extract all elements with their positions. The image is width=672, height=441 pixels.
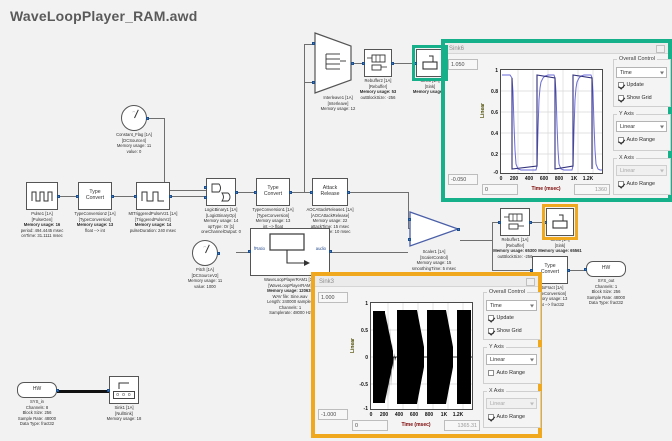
x-axis-group: X Axis (483, 391, 541, 428)
wire (112, 196, 136, 197)
scope-trace (501, 70, 603, 174)
y-tick: -0.5 (350, 382, 368, 388)
checkbox-box (618, 82, 624, 88)
overall-control-select[interactable]: Time (486, 300, 537, 311)
chevron-down-icon (530, 358, 534, 361)
y-tick: 0.6 (482, 110, 498, 116)
block-typeconversion1[interactable]: Type Convert TypeConversion1 [1A] [TypeC… (256, 178, 290, 206)
scope-trace (371, 303, 473, 410)
port-out[interactable] (111, 195, 114, 198)
knob-dial[interactable]: ⌒ (192, 240, 218, 266)
block-pitch[interactable]: ⌒ Pitch [1A] [DCSourceV2] Memory usage: … (192, 240, 218, 266)
block-label: Type Convert (256, 178, 290, 206)
y-min-field[interactable]: -1.000 (318, 409, 348, 420)
checkbox-box (488, 414, 494, 420)
y-tick: 0.8 (482, 89, 498, 95)
checkbox-label: Auto Range (497, 414, 525, 420)
block-label: Attack Release (312, 178, 348, 206)
knob-ticks: ⌒ (203, 246, 207, 250)
x-axis-label: Time (msec) (518, 186, 574, 192)
y-tick: 0 (356, 355, 368, 361)
x-tick: 400 (392, 412, 406, 418)
block-caption: Constant_Flag [1A] [DCSource4] Memory us… (86, 131, 182, 154)
group-label: X Axis (617, 155, 636, 161)
y-tick: 0.2 (482, 152, 498, 158)
port-out[interactable] (235, 191, 238, 194)
block-rebuffer2[interactable]: Rebuffer2 [1A] [Rebuffer] Memory usage: … (364, 49, 392, 77)
port-out[interactable] (169, 195, 172, 198)
schematic-canvas[interactable]: WaveLoopPlayer_RAM.awd Pulse1 [1A] [Puls… (0, 0, 672, 441)
show-grid-checkbox[interactable]: Show Grid (618, 95, 652, 101)
port-in[interactable] (498, 221, 501, 224)
block-sink1[interactable]: 0 0 0 Sink1 [1A] [NullSink] Memory usage… (109, 376, 139, 404)
wire (290, 192, 312, 193)
block-label: Type Convert (78, 182, 112, 210)
port-in[interactable] (134, 195, 137, 198)
block-sys-in[interactable]: HW SYS_in Channels: 8 Block Size: 256 Sa… (17, 382, 57, 398)
port-in[interactable] (362, 62, 365, 65)
x-auto-range-checkbox[interactable]: Auto Range (488, 414, 525, 420)
port-in-fratio[interactable] (248, 250, 251, 253)
y-max-field[interactable]: 1.000 (318, 292, 348, 303)
select-value: Time (620, 70, 632, 76)
block-logicbinary1[interactable]: LogicBinary1 [1A] [LogicBinaryOp] Memory… (206, 178, 236, 206)
port-out[interactable] (457, 228, 460, 231)
select-value: Linear (490, 401, 505, 407)
x-axis-label: Time (msec) (388, 422, 444, 428)
knob-dial[interactable]: ⌒ (121, 105, 147, 131)
scope-titlebar[interactable]: Sink3 (315, 276, 538, 287)
overall-control-select[interactable]: Time (616, 67, 667, 78)
port-out[interactable] (289, 191, 292, 194)
select-value: Linear (620, 168, 635, 174)
x-axis-scale-select: Linear (486, 398, 537, 409)
wire (236, 192, 256, 193)
port-in-2[interactable] (312, 81, 315, 84)
port-out[interactable] (529, 221, 532, 224)
select-value: Time (490, 303, 502, 309)
x-tick: 1.2K (450, 412, 466, 418)
block-caption: SYS_out Channels: 1 Block Size: 256 Samp… (558, 277, 654, 306)
wire (392, 63, 416, 64)
knob-ticks: ⌒ (132, 111, 136, 115)
checkbox-label: Show Grid (627, 95, 652, 101)
x-tick: 0 (365, 412, 377, 418)
port-out[interactable] (56, 389, 59, 392)
checkbox-label: Auto Range (627, 137, 655, 143)
x-min-field[interactable]: 0 (482, 184, 518, 195)
port-in[interactable] (254, 191, 257, 194)
port-in[interactable] (310, 191, 313, 194)
x-auto-range-checkbox[interactable]: Auto Range (618, 181, 655, 187)
port-out[interactable] (146, 117, 149, 120)
block-rebuffer1[interactable]: Rebuffer1 [1A] [Rebuffer] Memory usage: … (500, 208, 530, 236)
checkbox-label: Show Grid (497, 328, 522, 334)
port-out[interactable] (57, 195, 60, 198)
block-sink6[interactable]: Sink6 [1A] [Sink] Memory usage: 5 (416, 49, 444, 77)
hw-label: HW (17, 382, 57, 398)
chevron-down-icon (660, 71, 664, 74)
block-pulse1[interactable]: Pulse1 [1A] [PulseGen] Memory usage: 16 … (26, 182, 58, 210)
port-label-fratio: fRatio (254, 246, 265, 251)
checkbox-box (488, 328, 494, 334)
port-in-a[interactable] (204, 186, 207, 189)
y-axis-label: Linear (350, 338, 356, 353)
update-checkbox[interactable]: Update (488, 315, 514, 321)
scope-menu-button[interactable] (526, 278, 535, 286)
block-typeconversion2[interactable]: Type Convert TypeConversion2 [1A] [TypeC… (78, 182, 112, 210)
y-tick: 1 (356, 301, 368, 307)
checkbox-label: Update (627, 82, 644, 88)
group-label: Overall Control (617, 56, 657, 62)
scope-menu-button[interactable] (656, 45, 665, 53)
scaler-shape (408, 210, 460, 248)
block-caption: SYS_in Channels: 8 Block Size: 256 Sampl… (0, 398, 85, 427)
x-tick: 600 (537, 176, 551, 182)
scope-title-text: Sink6 (449, 46, 464, 52)
y-axis-scale-select[interactable]: Linear (486, 354, 537, 365)
port-in[interactable] (584, 268, 587, 271)
chevron-down-icon (530, 304, 534, 307)
x-tick: 800 (552, 176, 566, 182)
hw-label: HW (586, 261, 626, 277)
x-tick: 200 (377, 412, 391, 418)
x-tick: 1.2K (580, 176, 596, 182)
scope-window-sink3[interactable]: Sink3 1.000 -1.000 Linear 1 0.5 0 -0.5 -… (311, 272, 542, 438)
y-auto-range-checkbox[interactable]: Auto Range (488, 370, 525, 376)
scope-plot-area[interactable] (370, 302, 473, 410)
checkbox-box (488, 315, 494, 321)
port-out[interactable] (347, 191, 350, 194)
scope-window-sink6[interactable]: Sink6 1.050 -0.050 Linear 1 0.8 0.6 0.4 … (441, 39, 672, 202)
y-axis-scale-select[interactable]: Linear (616, 121, 667, 132)
x-tick: 400 (522, 176, 536, 182)
block-constant-flag[interactable]: ⌒ Constant_Flag [1A] [DCSource4] Memory … (121, 105, 147, 131)
checkbox-box (618, 181, 624, 187)
checkbox-label: Update (497, 315, 514, 321)
y-min-field[interactable]: -0.050 (448, 174, 478, 185)
block-aocattackrelease1[interactable]: Attack Release AOCAttackRelease1 [1A] [A… (312, 178, 348, 206)
wire (304, 44, 305, 192)
y-axis-group: Y Axis (613, 114, 671, 151)
x-tick: 1K (438, 412, 450, 418)
show-grid-checkbox[interactable]: Show Grid (488, 328, 522, 334)
group-label: Overall Control (487, 289, 527, 295)
select-value: Linear (490, 357, 505, 363)
block-sys-out[interactable]: HW SYS_out Channels: 1 Block Size: 256 S… (586, 261, 626, 277)
block-waveloopplayerram1[interactable]: fRatio audio WaveLoopPlayerRAM1 [1A] [Wa… (250, 228, 330, 276)
x-tick: 1K (568, 176, 580, 182)
group-label: Y Axis (487, 344, 506, 350)
scope-title-text: Sink3 (319, 279, 334, 285)
sink1-display: 0 0 0 (113, 391, 134, 398)
x-axis-group: X Axis (613, 158, 671, 195)
port-in[interactable] (414, 62, 417, 65)
x-tick: 0 (495, 176, 507, 182)
chevron-down-icon (530, 402, 534, 405)
x-axis-scale-select: Linear (616, 165, 667, 176)
x-max-field[interactable]: 1360 (574, 184, 610, 195)
port-in-b[interactable] (408, 238, 411, 241)
wire-bold (57, 390, 109, 393)
checkbox-box (618, 95, 624, 101)
port-in[interactable] (76, 195, 79, 198)
port-in-b[interactable] (204, 196, 207, 199)
wire (348, 192, 408, 193)
checkbox-label: Auto Range (497, 370, 525, 376)
page-title: WaveLoopPlayer_RAM.awd (10, 8, 197, 24)
checkbox-box (618, 137, 624, 143)
chevron-down-icon (660, 169, 664, 172)
wire (164, 190, 206, 191)
y-axis-group: Y Axis (483, 347, 541, 384)
wire (170, 196, 206, 197)
checkbox-label: Auto Range (627, 181, 655, 187)
port-out[interactable] (391, 62, 394, 65)
y-tick: 1 (486, 68, 498, 74)
port-label-audio: audio (316, 246, 326, 251)
x-tick: 600 (407, 412, 421, 418)
chevron-down-icon (660, 125, 664, 128)
checkbox-box (488, 370, 494, 376)
y-auto-range-checkbox[interactable]: Auto Range (618, 137, 655, 143)
x-tick: 200 (507, 176, 521, 182)
block-caption: Sink1 [1A] [NullSink] Memory usage: 18 (76, 404, 172, 422)
wire (58, 196, 78, 197)
y-tick: 0.5 (352, 328, 368, 334)
group-label: Y Axis (617, 111, 636, 117)
scope-plot-area[interactable] (500, 69, 603, 174)
select-value: Linear (620, 124, 635, 130)
block-caption: Sink3 [1A] [Sink] Memory usage: 65561 (512, 236, 608, 254)
block-caption: Pitch [1A] [DCSourceV2] Memory usage: 11… (157, 266, 253, 289)
port-in[interactable] (544, 221, 547, 224)
block-sink3[interactable]: Sink3 [1A] [Sink] Memory usage: 65561 (546, 208, 574, 236)
y-tick: 0.4 (482, 131, 498, 137)
port-out[interactable] (567, 269, 570, 272)
block-scaler1[interactable]: Scaler1 [1A] [ScalerControl] Memory usag… (408, 210, 460, 253)
port-in-a[interactable] (408, 218, 411, 221)
scope-titlebar[interactable]: Sink6 (445, 43, 668, 54)
group-label: X Axis (487, 388, 506, 394)
y-max-field[interactable]: 1.050 (448, 59, 478, 70)
port-out-audio[interactable] (329, 250, 332, 253)
wire (492, 270, 532, 271)
update-checkbox[interactable]: Update (618, 82, 644, 88)
port-in[interactable] (107, 389, 110, 392)
x-max-field[interactable]: 1365.31 (444, 420, 480, 431)
block-triggeredpulsev21[interactable]: MtTriggeredPulseV21 [1A] [TriggeredPulse… (136, 182, 170, 210)
port-out[interactable] (351, 62, 354, 65)
port-in-1[interactable] (312, 42, 315, 45)
x-tick: 800 (422, 412, 436, 418)
x-min-field[interactable]: 0 (352, 420, 388, 431)
port-out[interactable] (217, 252, 220, 255)
